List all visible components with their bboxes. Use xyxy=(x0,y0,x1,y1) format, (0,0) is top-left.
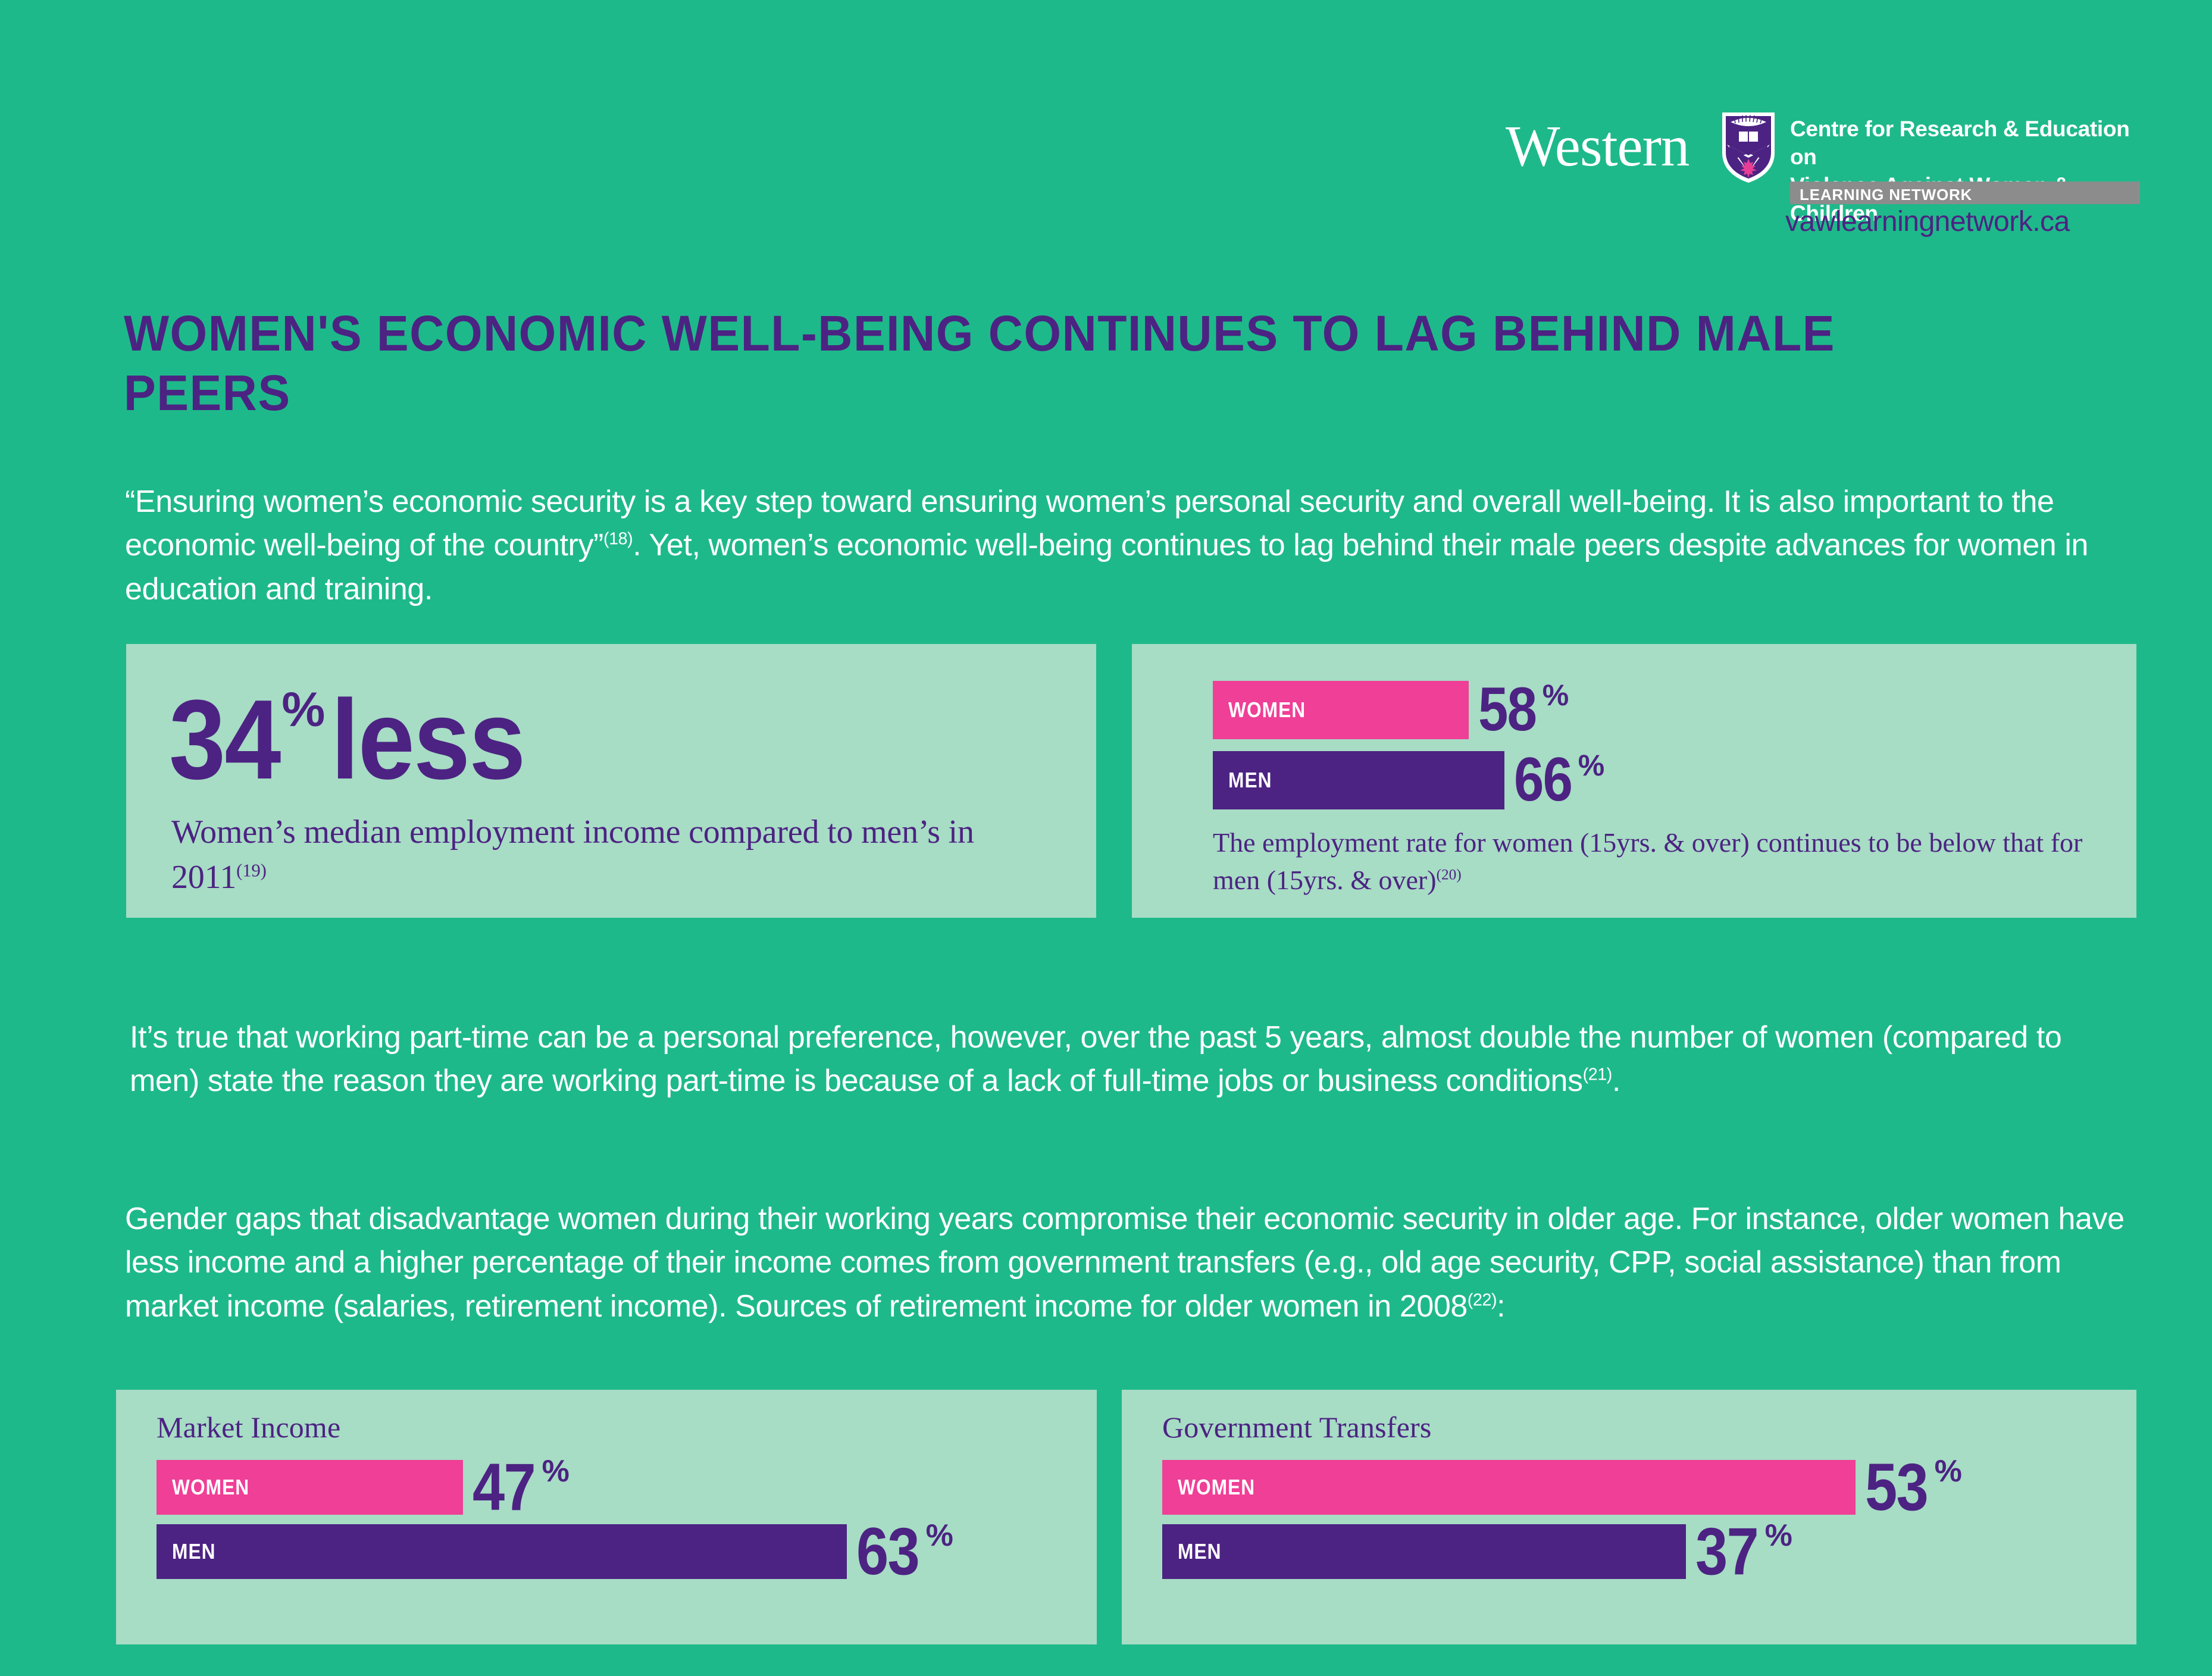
employment-value-women: 58% xyxy=(1478,682,1569,738)
older-age-paragraph: Gender gaps that disadvantage women duri… xyxy=(125,1197,2125,1328)
market-bar-women: WOMEN xyxy=(157,1460,463,1515)
employment-value-women-number: 58 xyxy=(1478,682,1536,738)
part-time-text: It’s true that working part-time can be … xyxy=(130,1020,2061,1098)
transfers-value-men-number: 37 xyxy=(1695,1522,1758,1582)
reference-20: (20) xyxy=(1437,867,1462,883)
part-time-paragraph: It’s true that working part-time can be … xyxy=(130,1016,2105,1103)
transfers-value-men: 37% xyxy=(1695,1522,1792,1582)
bar-label-women: WOMEN xyxy=(172,1475,249,1500)
bar-label-women: WOMEN xyxy=(1178,1475,1255,1500)
market-income-card: Market Income WOMEN 47% MEN 63% xyxy=(116,1390,1097,1644)
income-gap-caption-text: Women’s median employment income compare… xyxy=(171,814,974,896)
learning-network-label: LEARNING NETWORK xyxy=(1800,186,1972,204)
income-gap-headline: 34%less xyxy=(169,675,546,805)
western-shield-icon xyxy=(1720,110,1777,184)
employment-bar-women: WOMEN xyxy=(1213,681,1469,739)
transfers-bar-row-women: WOMEN 53% xyxy=(1162,1460,1962,1515)
market-income-title: Market Income xyxy=(157,1410,340,1444)
intro-paragraph: “Ensuring women’s economic security is a… xyxy=(125,480,2089,611)
employment-caption: The employment rate for women (15yrs. & … xyxy=(1213,824,2105,899)
income-gap-word: less xyxy=(331,675,525,805)
transfers-bar-women: WOMEN xyxy=(1162,1460,1856,1515)
older-age-tail: : xyxy=(1497,1289,1505,1324)
reference-22: (22) xyxy=(1468,1290,1497,1309)
employment-value-men-number: 66 xyxy=(1514,752,1572,808)
percent-symbol: % xyxy=(542,1458,570,1486)
reference-18: (18) xyxy=(603,530,633,549)
employment-bar-row-women: WOMEN 58% xyxy=(1213,681,1569,739)
income-gap-card: 34%less Women’s median employment income… xyxy=(126,644,1096,918)
transfers-bar-row-men: MEN 37% xyxy=(1162,1524,1792,1579)
western-wordmark: Western xyxy=(1506,117,1689,175)
market-value-women: 47% xyxy=(473,1458,570,1518)
market-value-men: 63% xyxy=(856,1522,953,1582)
market-bar-row-women: WOMEN 47% xyxy=(157,1460,570,1515)
centre-name-line-1: Centre for Research & Education on xyxy=(1790,115,2141,171)
bar-label-men: MEN xyxy=(172,1539,216,1564)
part-time-tail: . xyxy=(1612,1064,1620,1098)
bar-label-men: MEN xyxy=(1178,1539,1222,1564)
employment-bar-men: MEN xyxy=(1213,751,1504,809)
government-transfers-card: Government Transfers WOMEN 53% MEN 37% xyxy=(1122,1390,2136,1644)
page-title: WOMEN'S ECONOMIC WELL-BEING CONTINUES TO… xyxy=(124,304,1895,423)
employment-value-men: 66% xyxy=(1514,752,1604,808)
transfers-bar-men: MEN xyxy=(1162,1524,1686,1579)
income-gap-value: 34 xyxy=(169,675,280,805)
market-bar-row-men: MEN 63% xyxy=(157,1524,953,1579)
percent-symbol: % xyxy=(1543,682,1569,709)
site-url[interactable]: vawlearningnetwork.ca xyxy=(1785,205,2070,238)
employment-rate-card: WOMEN 58% MEN 66% The employment rate fo… xyxy=(1132,644,2136,918)
government-transfers-title: Government Transfers xyxy=(1162,1410,1432,1444)
market-value-men-number: 63 xyxy=(856,1522,919,1582)
bar-label-women: WOMEN xyxy=(1228,698,1306,723)
bar-label-men: MEN xyxy=(1228,768,1272,793)
reference-21: (21) xyxy=(1583,1065,1612,1084)
percent-symbol: % xyxy=(1578,752,1604,779)
market-bar-men: MEN xyxy=(157,1524,847,1579)
brand-header: Western Centre for Research & Education … xyxy=(1506,110,2136,247)
learning-network-bar: LEARNING NETWORK xyxy=(1790,182,2140,204)
market-value-women-number: 47 xyxy=(473,1458,535,1518)
percent-symbol: % xyxy=(1765,1522,1792,1550)
percent-symbol: % xyxy=(1935,1458,1962,1486)
transfers-value-women: 53% xyxy=(1865,1458,1962,1518)
transfers-value-women-number: 53 xyxy=(1865,1458,1928,1518)
employment-bar-row-men: MEN 66% xyxy=(1213,751,1604,809)
percent-symbol: % xyxy=(926,1522,953,1550)
income-gap-caption: Women’s median employment income compare… xyxy=(171,809,1064,900)
reference-19: (19) xyxy=(236,861,267,881)
employment-caption-text: The employment rate for women (15yrs. & … xyxy=(1213,827,2082,895)
income-gap-percent-symbol: % xyxy=(281,682,325,738)
older-age-text: Gender gaps that disadvantage women duri… xyxy=(125,1202,2125,1324)
